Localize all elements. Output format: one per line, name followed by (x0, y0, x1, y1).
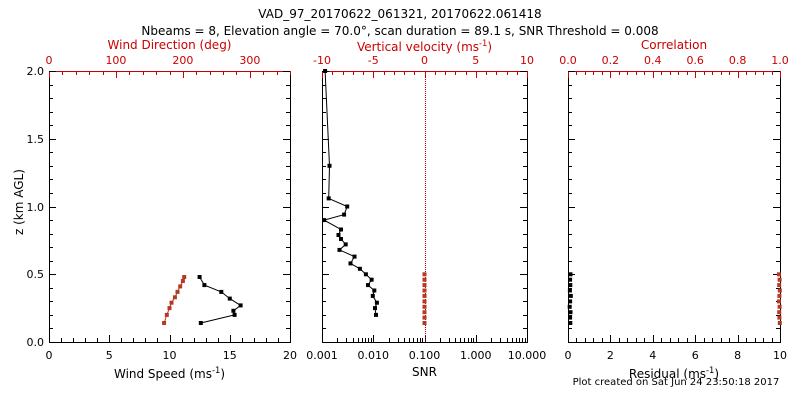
x-tick-bottom (254, 338, 255, 342)
y-tick (523, 315, 527, 316)
y-tick (322, 342, 329, 343)
x-tick-bottom (473, 338, 474, 342)
x-tick-bottom (678, 338, 679, 342)
x-tick-bottom (704, 338, 705, 342)
y-tick-label: 0.0 (27, 337, 45, 348)
x-tick-bottom (145, 338, 146, 342)
x-tick-top (763, 71, 764, 75)
y-tick (286, 315, 290, 316)
x-tick-label-bottom: 10 (163, 350, 177, 361)
x-tick-top (394, 71, 395, 75)
y-tick (49, 139, 56, 140)
x-tick-top (343, 71, 344, 75)
x-tick-label-top: 5 (472, 55, 479, 66)
x-tick-bottom (206, 338, 207, 342)
x-tick-top (627, 71, 628, 75)
y-tick (568, 288, 572, 289)
x-tick-bottom (593, 338, 594, 342)
y-tick (523, 152, 527, 153)
x-tick-top (404, 71, 405, 75)
data-point (328, 164, 332, 168)
x-tick-bottom (712, 338, 713, 342)
x-tick-bottom (365, 338, 366, 342)
y-tick (568, 71, 575, 72)
y-tick (286, 166, 290, 167)
data-point (364, 272, 368, 276)
series-line-snr (324, 71, 377, 315)
y-tick (568, 301, 572, 302)
y-tick (322, 288, 326, 289)
data-point (170, 301, 174, 305)
data-point (366, 283, 370, 287)
x-tick-bottom (568, 335, 569, 342)
y-tick (286, 125, 290, 126)
x-tick-top (704, 71, 705, 75)
y-tick (568, 315, 572, 316)
x-tick-bottom (420, 338, 421, 342)
y-tick (49, 152, 53, 153)
data-point (198, 275, 202, 279)
x-tick-label-bottom: 10 (773, 350, 787, 361)
y-tick-label: 1.0 (27, 202, 45, 213)
series-line-wind-speed (200, 277, 241, 323)
x-tick-top (332, 71, 333, 75)
x-tick-top (568, 71, 569, 78)
x-tick-top (183, 71, 184, 78)
x-tick-label-top: -5 (368, 55, 379, 66)
x-tick-bottom (653, 335, 654, 342)
y-tick (568, 274, 575, 275)
x-tick-bottom (636, 338, 637, 342)
y-tick (283, 139, 290, 140)
x-tick-bottom (346, 338, 347, 342)
plot-footer: Plot created on Sat Jun 24 23:50:18 2017 (573, 378, 780, 388)
y-tick (523, 179, 527, 180)
y-tick (49, 247, 53, 248)
x-tick-top (143, 71, 144, 75)
panel-frame-bottom (568, 342, 781, 343)
x-tick-top (466, 71, 467, 75)
y-tick (49, 288, 53, 289)
y-tick (520, 207, 527, 208)
y-tick (568, 207, 575, 208)
y-tick-label: 1.5 (27, 134, 45, 145)
x-tick-bottom (230, 335, 231, 342)
y-tick (568, 193, 572, 194)
x-tick-bottom (746, 338, 747, 342)
figure-title: VAD_97_20170622_061321, 20170622.061418 (258, 8, 541, 20)
x-tick-bottom (464, 338, 465, 342)
x-tick-label-bottom: 5 (106, 350, 113, 361)
y-tick (523, 220, 527, 221)
x-tick-top (277, 71, 278, 75)
y-tick (523, 125, 527, 126)
y-tick (523, 98, 527, 99)
series-line-wind-direction (164, 277, 184, 323)
y-tick (49, 274, 56, 275)
x-tick-top (363, 71, 364, 75)
x-tick-top (263, 71, 264, 75)
y-tick (286, 288, 290, 289)
y-tick (776, 179, 780, 180)
y-tick (322, 139, 329, 140)
x-tick-top (223, 71, 224, 75)
x-tick-label-bottom: 0 (565, 350, 572, 361)
x-tick-top (476, 71, 477, 78)
x-tick-bottom (602, 338, 603, 342)
reference-line (425, 71, 426, 342)
x-tick-top (196, 71, 197, 75)
y-tick (49, 220, 53, 221)
y-tick (568, 328, 572, 329)
x-tick-top (593, 71, 594, 75)
x-tick-label-top: 0.6 (686, 55, 704, 66)
x-tick-bottom (109, 335, 110, 342)
data-point (374, 313, 378, 317)
y-tick (49, 261, 53, 262)
y-tick (49, 85, 53, 86)
x-tick-bottom (290, 335, 291, 342)
y-tick (322, 85, 326, 86)
x-tick-bottom (368, 338, 369, 342)
x-tick-label-top: 0.0 (559, 55, 577, 66)
x-tick-bottom (413, 338, 414, 342)
y-tick (568, 85, 572, 86)
y-tick (283, 342, 290, 343)
y-tick (568, 125, 572, 126)
y-tick (776, 220, 780, 221)
y-tick (776, 193, 780, 194)
y-tick (776, 98, 780, 99)
x-tick-top (116, 71, 117, 78)
y-tick (568, 342, 575, 343)
data-point (371, 294, 375, 298)
x-tick-top (721, 71, 722, 75)
x-tick-label-top: 0 (46, 55, 53, 66)
y-tick (49, 98, 53, 99)
y-tick (286, 328, 290, 329)
x-tick-top (576, 71, 577, 75)
y-tick (49, 193, 53, 194)
y-tick (776, 328, 780, 329)
x-tick-bottom (353, 338, 354, 342)
y-tick (523, 166, 527, 167)
y-tick (322, 234, 326, 235)
x-tick-bottom (455, 338, 456, 342)
data-point (339, 237, 343, 241)
y-tick (773, 139, 780, 140)
x-tick-top (610, 71, 611, 78)
y-tick (286, 234, 290, 235)
data-point (168, 306, 172, 310)
y-tick (49, 166, 53, 167)
y-tick-label: 0.5 (27, 269, 45, 280)
y-tick (49, 207, 56, 208)
panel-frame-right (527, 71, 528, 343)
data-point (372, 289, 376, 293)
x-tick-bottom (661, 338, 662, 342)
x-tick-top (76, 71, 77, 75)
x-tick-bottom (721, 338, 722, 342)
y-tick (49, 125, 53, 126)
y-tick (776, 125, 780, 126)
y-tick (520, 274, 527, 275)
x-tick-top (678, 71, 679, 75)
x-tick-top (755, 71, 756, 75)
y-tick (776, 112, 780, 113)
x-tick-bottom (362, 338, 363, 342)
y-tick (49, 179, 53, 180)
x-tick-bottom (491, 338, 492, 342)
x-tick-bottom (610, 335, 611, 342)
x-axis-label-top: Correlation (641, 39, 707, 51)
x-tick-bottom (476, 335, 477, 342)
x-tick-top (486, 71, 487, 75)
y-tick (49, 234, 53, 235)
y-tick (568, 261, 572, 262)
x-tick-top (129, 71, 130, 75)
y-tick (523, 234, 527, 235)
data-point (231, 309, 235, 313)
x-tick-label-bottom: 0.010 (358, 350, 390, 361)
y-tick (286, 261, 290, 262)
y-tick (776, 301, 780, 302)
x-tick-top (290, 71, 291, 75)
x-tick-label-top: 10 (520, 55, 534, 66)
y-tick (283, 274, 290, 275)
x-tick-bottom (440, 338, 441, 342)
y-tick (568, 166, 572, 167)
x-tick-bottom (460, 338, 461, 342)
y-tick (322, 152, 326, 153)
x-tick-bottom (322, 335, 323, 342)
x-tick-label-top: 200 (172, 55, 193, 66)
y-tick (283, 207, 290, 208)
panel-frame-right (290, 71, 291, 343)
y-tick (322, 98, 326, 99)
x-tick-label-bottom: 6 (692, 350, 699, 361)
x-tick-bottom (358, 338, 359, 342)
y-tick (49, 342, 56, 343)
x-tick-bottom (404, 338, 405, 342)
x-tick-bottom (449, 338, 450, 342)
y-tick (776, 288, 780, 289)
y-tick (773, 207, 780, 208)
y-tick (322, 71, 329, 72)
x-axis-label-bottom: Wind Speed (ms-1) (114, 366, 225, 380)
data-point (178, 284, 182, 288)
x-tick-label-top: 1.0 (771, 55, 789, 66)
y-tick (776, 166, 780, 167)
x-axis-label-top: Vertical velocity (ms-1) (357, 39, 492, 53)
x-tick-bottom (85, 338, 86, 342)
x-tick-bottom (73, 338, 74, 342)
x-tick-bottom (170, 335, 171, 342)
x-tick-label-top: 0 (421, 55, 428, 66)
x-tick-label-bottom: 20 (283, 350, 297, 361)
x-tick-bottom (627, 338, 628, 342)
x-tick-bottom (471, 338, 472, 342)
x-tick-bottom (644, 338, 645, 342)
data-point (344, 242, 348, 246)
x-tick-bottom (687, 338, 688, 342)
data-point (176, 290, 180, 294)
x-tick-bottom (373, 335, 374, 342)
y-tick (49, 328, 53, 329)
x-tick-bottom (266, 338, 267, 342)
x-tick-bottom (218, 338, 219, 342)
y-tick (520, 71, 527, 72)
x-tick-top (507, 71, 508, 75)
y-tick (286, 193, 290, 194)
x-tick-label-top: 300 (239, 55, 260, 66)
y-tick (286, 98, 290, 99)
y-tick (322, 112, 326, 113)
y-tick (523, 112, 527, 113)
y-tick (776, 234, 780, 235)
x-tick-bottom (97, 338, 98, 342)
x-tick-top (414, 71, 415, 75)
y-tick (568, 247, 572, 248)
x-tick-bottom (157, 338, 158, 342)
data-point (370, 278, 374, 282)
y-tick-label: 2.0 (27, 66, 45, 77)
x-tick-top (384, 71, 385, 75)
x-tick-top (496, 71, 497, 75)
panel-frame-bottom (49, 342, 291, 343)
x-tick-bottom (194, 338, 195, 342)
x-tick-bottom (398, 338, 399, 342)
x-tick-top (455, 71, 456, 75)
y-tick (568, 220, 572, 221)
x-tick-bottom (61, 338, 62, 342)
x-tick-label-bottom: 0.100 (409, 350, 441, 361)
x-tick-top (661, 71, 662, 75)
x-tick-bottom (576, 338, 577, 342)
y-tick (520, 139, 527, 140)
x-tick-top (653, 71, 654, 78)
x-tick-bottom (121, 338, 122, 342)
y-tick (322, 220, 326, 221)
figure-canvas: VAD_97_20170622_061321, 20170622.061418 … (0, 0, 800, 400)
y-tick (286, 247, 290, 248)
x-tick-bottom (585, 338, 586, 342)
y-tick (773, 342, 780, 343)
y-tick (568, 98, 572, 99)
x-tick-bottom (527, 335, 528, 342)
y-tick (773, 274, 780, 275)
y-axis-label: z (km AGL) (12, 169, 26, 235)
x-tick-bottom (278, 338, 279, 342)
data-point (327, 196, 331, 200)
x-tick-top (445, 71, 446, 75)
x-tick-bottom (780, 335, 781, 342)
x-tick-top (619, 71, 620, 75)
x-tick-top (712, 71, 713, 75)
y-tick (523, 288, 527, 289)
x-tick-bottom (49, 335, 50, 342)
x-tick-label-top: 0.8 (729, 55, 747, 66)
x-tick-bottom (738, 335, 739, 342)
y-tick (49, 71, 56, 72)
x-tick-top (373, 71, 374, 78)
panel-frame-top (568, 71, 781, 72)
x-tick-top (210, 71, 211, 75)
x-tick-label-bottom: 4 (649, 350, 656, 361)
y-tick (322, 301, 326, 302)
data-point (358, 267, 362, 271)
y-tick (322, 247, 326, 248)
x-tick-label-bottom: 2 (607, 350, 614, 361)
x-tick-label-top: 100 (105, 55, 126, 66)
data-point (162, 321, 166, 325)
y-tick (523, 328, 527, 329)
y-tick (568, 112, 572, 113)
data-point (182, 275, 186, 279)
data-point (199, 321, 203, 325)
x-tick-top (103, 71, 104, 75)
x-tick-top (780, 71, 781, 78)
y-tick (776, 152, 780, 153)
x-tick-bottom (389, 338, 390, 342)
x-tick-top (695, 71, 696, 78)
data-point (202, 283, 206, 287)
x-tick-top (746, 71, 747, 75)
y-tick (49, 315, 53, 316)
x-tick-label-bottom: 10.000 (508, 350, 547, 361)
y-tick (568, 234, 572, 235)
x-tick-label-top: -10 (313, 55, 331, 66)
x-tick-label-bottom: 0.001 (306, 350, 338, 361)
y-tick (568, 152, 572, 153)
y-tick (568, 179, 572, 180)
y-tick (523, 193, 527, 194)
y-tick (523, 261, 527, 262)
x-tick-bottom (695, 335, 696, 342)
x-tick-bottom (337, 338, 338, 342)
y-tick (322, 328, 326, 329)
y-tick (523, 247, 527, 248)
x-tick-top (644, 71, 645, 75)
x-tick-top (585, 71, 586, 75)
x-tick-bottom (670, 338, 671, 342)
y-tick (776, 85, 780, 86)
x-tick-label-bottom: 8 (734, 350, 741, 361)
x-axis-label-bottom: SNR (412, 366, 437, 378)
x-tick-top (236, 71, 237, 75)
x-tick-top (156, 71, 157, 75)
data-point (345, 205, 349, 209)
x-tick-label-bottom: 15 (223, 350, 237, 361)
data-point (337, 233, 341, 237)
y-tick (286, 301, 290, 302)
y-tick (520, 342, 527, 343)
x-tick-bottom (182, 338, 183, 342)
y-tick (523, 85, 527, 86)
x-tick-bottom (422, 338, 423, 342)
x-tick-top (729, 71, 730, 75)
y-tick (286, 179, 290, 180)
x-tick-bottom (242, 338, 243, 342)
x-tick-bottom (507, 338, 508, 342)
y-tick (776, 315, 780, 316)
x-tick-bottom (409, 338, 410, 342)
y-tick (776, 247, 780, 248)
y-tick (322, 193, 326, 194)
x-tick-label-bottom: 1.000 (460, 350, 492, 361)
figure-subtitle: Nbeams = 8, Elevation angle = 70.0°, sca… (141, 25, 658, 37)
y-tick (776, 261, 780, 262)
